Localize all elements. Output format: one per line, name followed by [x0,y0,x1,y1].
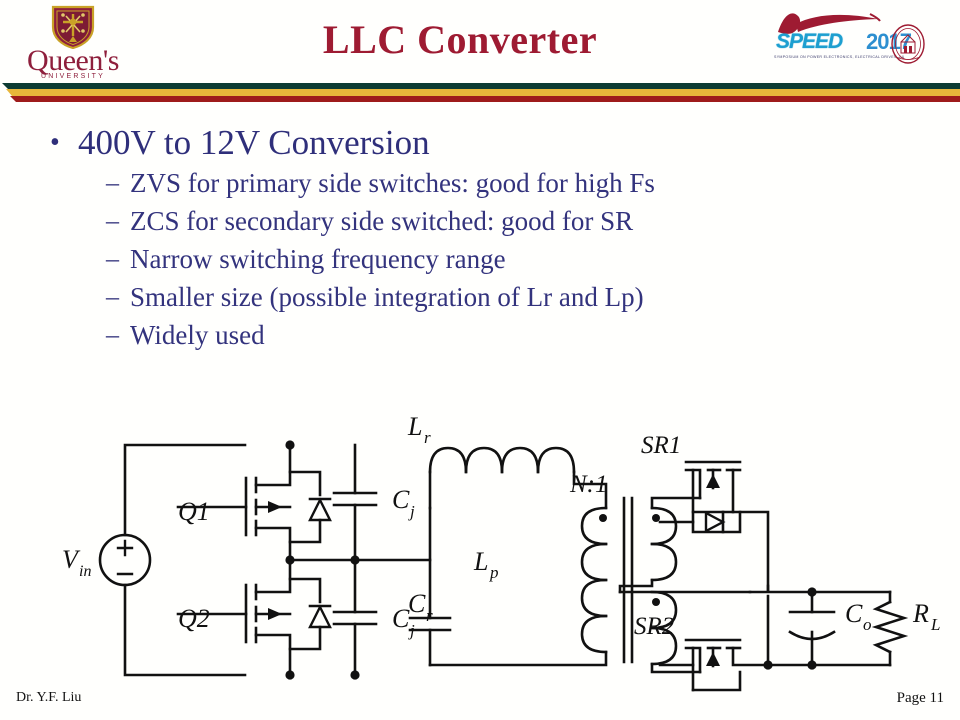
bullet-list: • 400V to 12V Conversion – ZVS for prima… [38,122,918,354]
label-co: C [845,599,863,628]
llc-converter-schematic: V in Q1 Q2 C j C j L r L p C r N:1 SR1 S… [0,400,960,695]
bullet-dash-icon: – [106,240,119,278]
label-cj-top-sub: j [408,502,415,521]
label-rl-sub: L [930,615,940,634]
bullet-dash-icon: – [106,278,119,316]
queens-wordmark-text: Queen's [14,46,132,76]
queens-university-logo: Queen's UNIVERSITY [14,4,132,82]
bullet-level2-item: – Narrow switching frequency range [38,240,918,278]
label-rl: R [912,599,929,628]
bullet-level1: • 400V to 12V Conversion [38,122,918,164]
bullet-level2-text: Narrow switching frequency range [130,244,506,274]
bullet-dash-icon: – [106,316,119,354]
bullet-dot-icon: • [50,122,60,164]
label-sr1: SR1 [641,432,681,459]
bullet-level2-text: Widely used [130,320,265,350]
slide-canvas: Queen's UNIVERSITY LLC Converter SPEED 2… [0,0,960,720]
bullet-level2-item: – ZCS for secondary side switched: good … [38,202,918,240]
label-cr-sub: r [426,606,433,625]
speed-conference-logo: SPEED 2017 SYMPOSIUM ON POWER ELECTRONIC… [768,8,918,74]
bullet-level2-item: – Smaller size (possible integration of … [38,278,918,316]
bullet-level1-text: 400V to 12V Conversion [78,123,430,162]
label-cj-top: C [392,485,410,514]
label-sr2: SR2 [634,613,674,640]
label-lp: L [473,547,488,576]
label-cj-bottom-sub: j [408,621,415,640]
label-lr-sub: r [424,428,431,447]
university-seal-icon [890,24,926,64]
label-q2: Q2 [178,604,210,633]
footer-page-number: Page 11 [897,690,944,707]
bullet-level2-item: – ZVS for primary side switches: good fo… [38,164,918,202]
label-vin-sub: in [79,563,91,580]
bullet-dash-icon: – [106,164,119,202]
label-lp-sub: p [489,563,499,582]
label-cr: C [408,589,426,618]
bullet-dash-icon: – [106,202,119,240]
header-rule-bars [0,82,960,104]
label-lr: L [407,412,422,441]
queens-crest-icon [50,5,96,49]
polarity-dot [599,514,607,522]
queens-university-subtext: UNIVERSITY [14,73,132,80]
polarity-dot [652,598,660,606]
bullet-level2-text: ZVS for primary side switches: good for … [130,168,655,198]
speed-logo-tagline: SYMPOSIUM ON POWER ELECTRONICS, ELECTRIC… [774,55,904,59]
speed-logo-word: SPEED [776,30,842,54]
footer-author: Dr. Y.F. Liu [16,690,146,706]
bullet-level2-item: – Widely used [38,316,918,354]
slide-title: LLC Converter [180,16,740,63]
label-co-sub: o [863,615,872,634]
label-turns-ratio: N:1 [569,471,608,498]
slide-header: Queen's UNIVERSITY LLC Converter SPEED 2… [0,0,960,82]
label-q1: Q1 [178,497,210,526]
bullet-level2-text: ZCS for secondary side switched: good fo… [130,206,633,236]
bullet-level2-text: Smaller size (possible integration of Lr… [130,282,644,312]
